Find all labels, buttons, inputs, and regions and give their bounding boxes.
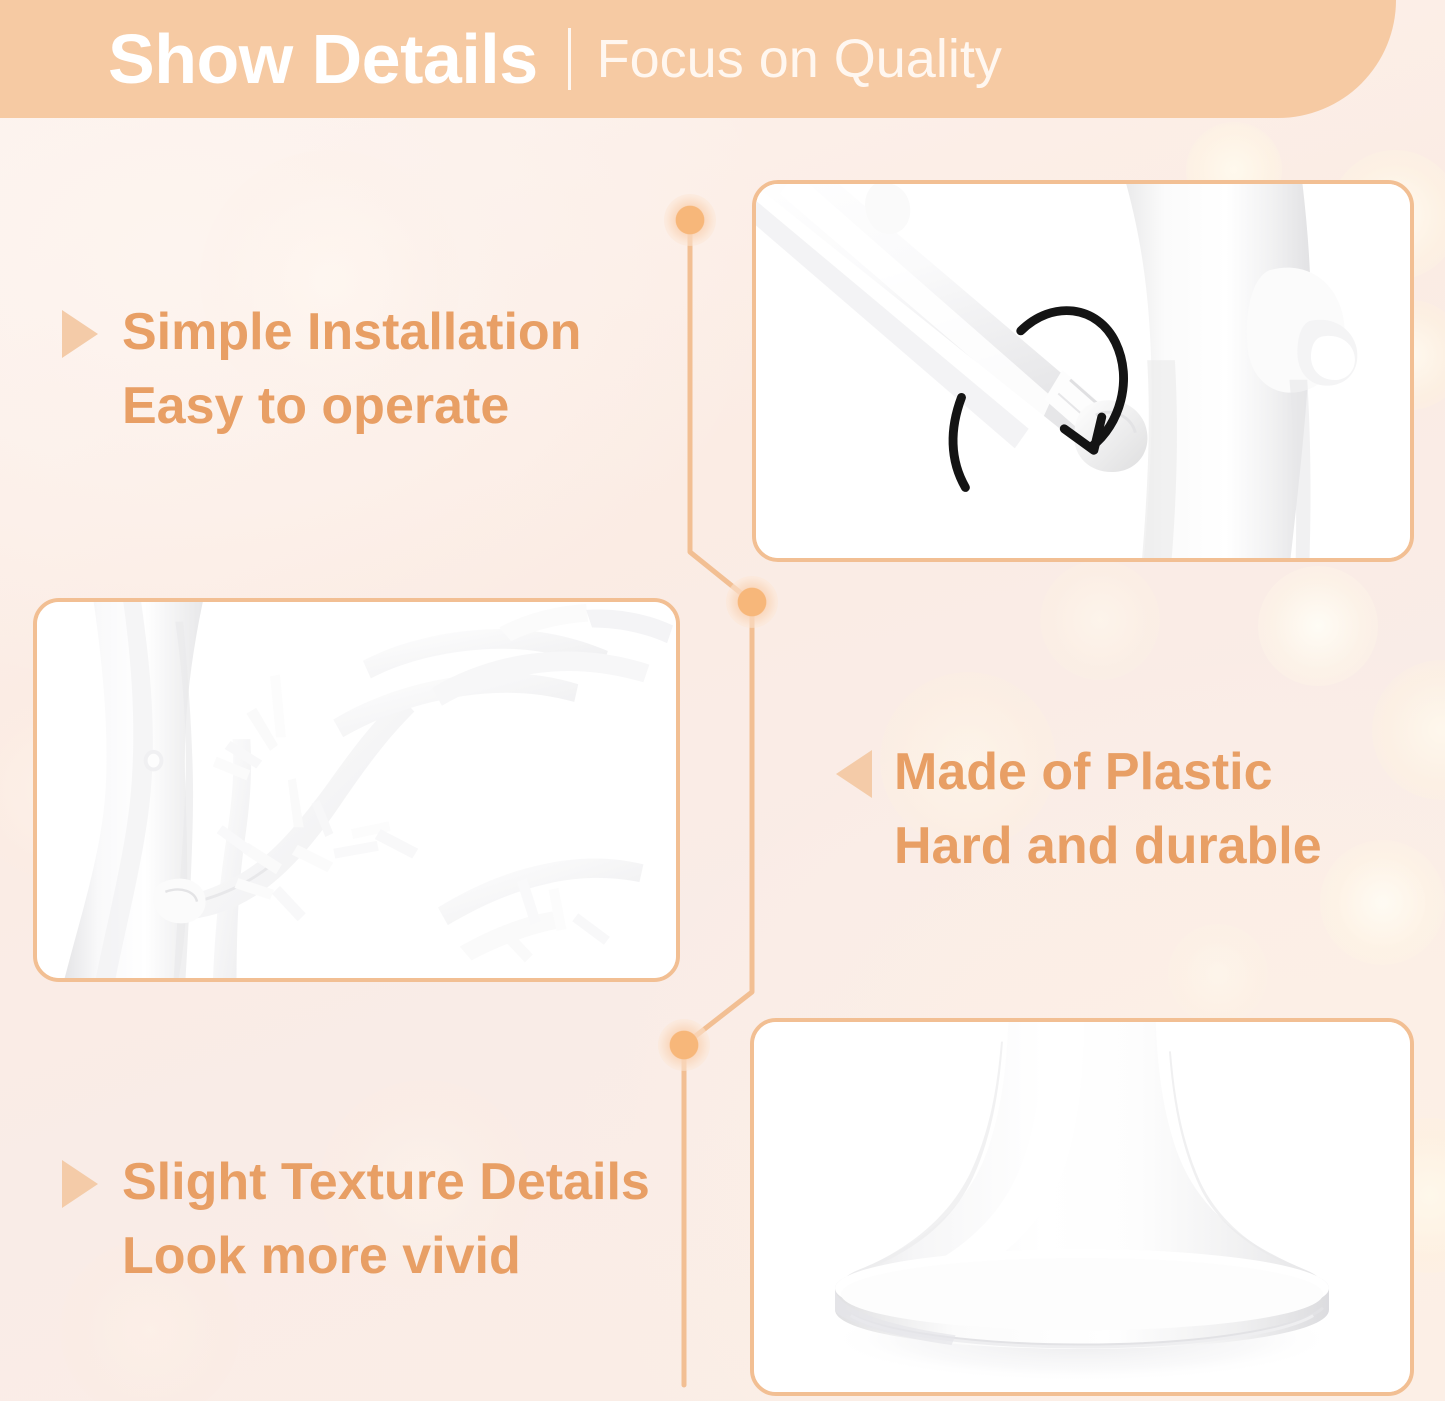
triangle-right-icon [62,1160,98,1208]
feature-label: Slight Texture Details Look more vivid [122,1146,650,1294]
feature-label: Made of Plastic Hard and durable [894,736,1322,884]
banner-divider [568,28,571,90]
feature-made-of-plastic: Made of Plastic Hard and durable [836,736,1322,884]
feature-line-2: Hard and durable [894,810,1322,884]
feature-line-2: Easy to operate [122,370,581,444]
infographic-stage: Show Details Focus on Quality [0,0,1445,1401]
page-title: Show Details [108,24,538,94]
branch-insertion-image [756,184,1410,558]
feature-line-1: Made of Plastic [894,743,1273,801]
base-stand-photo [750,1018,1414,1396]
feature-line-2: Look more vivid [122,1220,650,1294]
branch-texture-image [37,602,676,978]
feature-label: Simple Installation Easy to operate [122,296,581,444]
feature-simple-installation: Simple Installation Easy to operate [62,296,581,444]
branch-texture-photo [33,598,680,982]
base-stand-image [754,1022,1410,1392]
feature-slight-texture-details: Slight Texture Details Look more vivid [62,1146,650,1294]
header-banner: Show Details Focus on Quality [0,0,1396,118]
connector-node-1 [664,194,716,246]
page-subtitle: Focus on Quality [597,32,1002,86]
triangle-left-icon [836,750,872,798]
connector-node-2 [726,576,778,628]
feature-line-1: Simple Installation [122,303,581,361]
feature-line-1: Slight Texture Details [122,1153,650,1211]
triangle-right-icon [62,310,98,358]
branch-insertion-photo [752,180,1414,562]
connector-node-3 [658,1019,710,1071]
